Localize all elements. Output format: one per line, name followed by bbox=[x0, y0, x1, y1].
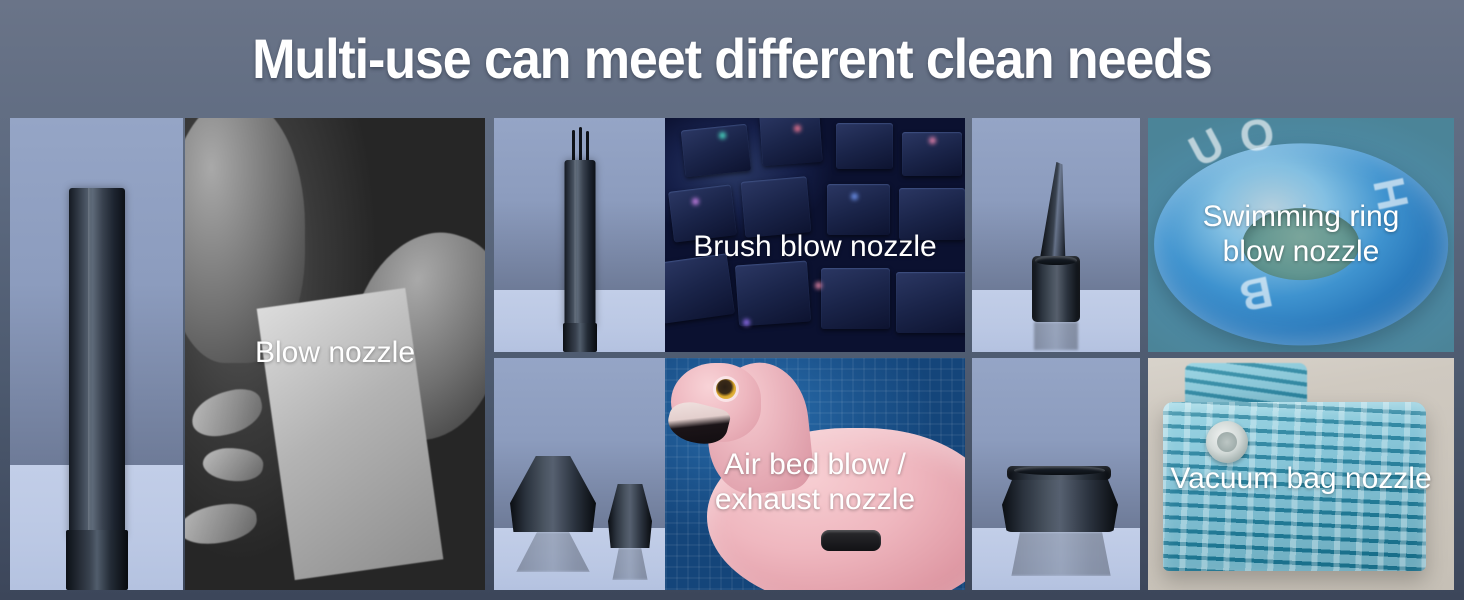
needle-nozzle-icon bbox=[1040, 161, 1073, 263]
brush-blow-nozzle-tube-icon bbox=[564, 160, 595, 328]
title-band: Multi-use can meet different clean needs bbox=[0, 0, 1464, 118]
air-bed-nozzle-photo-panel: Air bed blow / exhaust nozzle bbox=[665, 358, 965, 590]
infographic-root: Multi-use can meet different clean needs… bbox=[0, 0, 1464, 600]
large-cone-nozzle-icon bbox=[510, 456, 596, 532]
flamingo-float-eye bbox=[716, 379, 736, 399]
float-handle-shape bbox=[821, 530, 881, 551]
vacuum-adapter-rim-icon bbox=[1007, 466, 1111, 480]
swimming-ring-nozzle-photo-panel: U O H B Swimming ring blow nozzle bbox=[1148, 118, 1454, 352]
key-backlight-glow bbox=[692, 198, 699, 205]
keyboard-key-shape bbox=[735, 261, 811, 327]
wood-shaving-shape bbox=[201, 444, 265, 486]
brush-blow-nozzle-product-panel bbox=[494, 118, 665, 352]
key-backlight-glow bbox=[851, 193, 858, 200]
swimming-ring-nozzle-product-panel bbox=[972, 118, 1140, 352]
vacuum-bag-nozzle-product-panel bbox=[972, 358, 1140, 590]
air-bed-nozzle-product-panel bbox=[494, 358, 665, 590]
page-title: Multi-use can meet different clean needs bbox=[252, 31, 1212, 87]
keyboard-key-shape bbox=[665, 254, 735, 324]
brush-blow-nozzle-photo-panel: Brush blow nozzle bbox=[665, 118, 965, 352]
vacuum-bag-valve bbox=[1206, 421, 1248, 463]
keyboard-key-shape bbox=[821, 268, 890, 329]
product-reflection bbox=[1007, 532, 1115, 576]
keyboard-key-shape bbox=[827, 184, 890, 235]
vacuum-bag-nozzle-photo-panel: Vacuum bag nozzle bbox=[1148, 358, 1454, 590]
blow-nozzle-collar-icon bbox=[66, 530, 128, 590]
wood-shaving-shape bbox=[185, 501, 259, 547]
keyboard-key-shape bbox=[741, 176, 812, 238]
brush-bristle-icon bbox=[579, 127, 582, 162]
nozzle-rim bbox=[1014, 466, 1106, 475]
small-cone-nozzle-icon bbox=[608, 484, 652, 548]
keyboard-key-shape bbox=[836, 123, 893, 170]
key-backlight-glow bbox=[794, 125, 801, 132]
wood-shaving-shape bbox=[187, 384, 267, 443]
vacuum-bag-stack bbox=[1163, 402, 1426, 571]
keyboard-key-shape bbox=[759, 118, 822, 167]
key-backlight-glow bbox=[929, 137, 936, 144]
product-reflection bbox=[1034, 322, 1078, 350]
key-backlight-glow bbox=[719, 132, 726, 139]
key-backlight-glow bbox=[815, 282, 822, 289]
brush-nozzle-collar-icon bbox=[563, 323, 597, 352]
keyboard-key-shape bbox=[896, 272, 965, 333]
keyboard-key-shape bbox=[899, 188, 965, 239]
blow-nozzle-tube-icon bbox=[69, 188, 125, 538]
nozzle-rim bbox=[1035, 256, 1077, 265]
needle-nozzle-base-icon bbox=[1032, 256, 1080, 322]
keyboard-key-shape bbox=[681, 124, 752, 177]
keyboard-key-shape bbox=[668, 185, 737, 244]
brush-bristle-icon bbox=[586, 131, 589, 162]
brush-bristle-icon bbox=[572, 130, 575, 162]
blow-nozzle-photo-panel: Blow nozzle bbox=[185, 118, 485, 590]
blow-nozzle-product-panel bbox=[10, 118, 183, 590]
